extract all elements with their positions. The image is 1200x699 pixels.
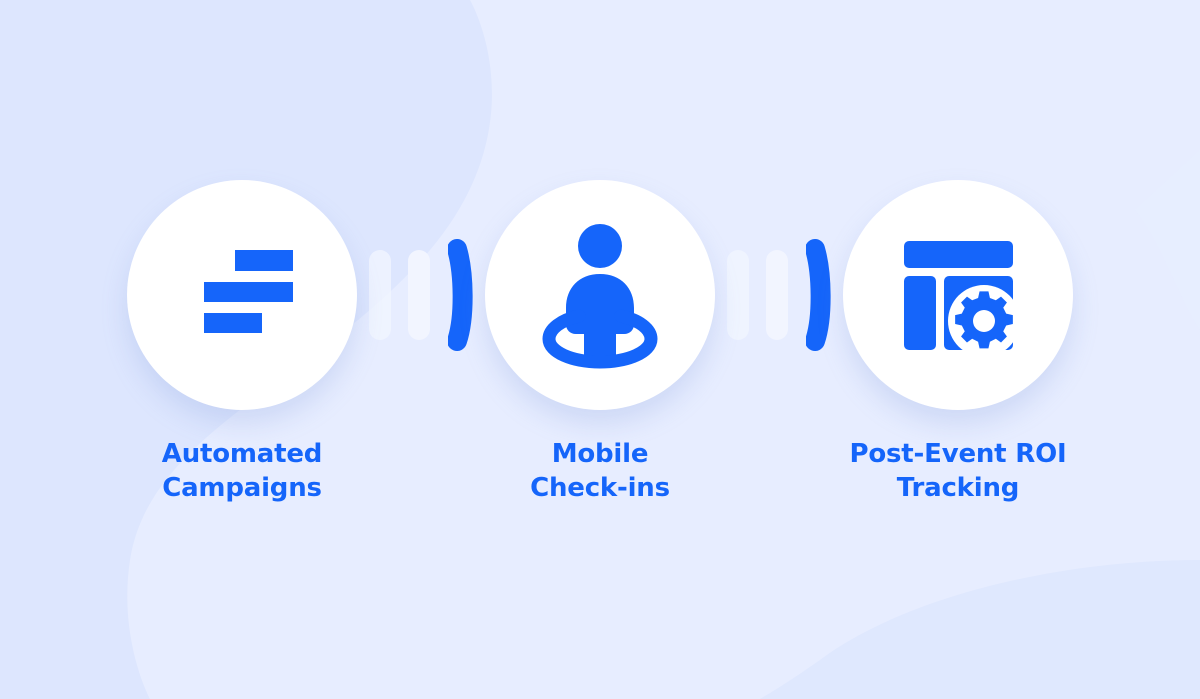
- step-icon-circle[interactable]: [485, 180, 715, 410]
- chevron-right-icon: [448, 239, 474, 351]
- person-location-icon: [535, 220, 665, 370]
- connector-dash-light: [369, 250, 391, 340]
- step-label: Post-Event ROI Tracking: [850, 437, 1067, 506]
- dashboard-settings-icon: [896, 233, 1021, 358]
- connector-dash-light: [766, 250, 788, 340]
- step-label: Mobile Check-ins: [530, 437, 670, 506]
- step-icon-circle[interactable]: [127, 180, 357, 410]
- connector-1: [357, 180, 485, 410]
- step-icon-circle[interactable]: [843, 180, 1073, 410]
- feature-steps-graphic: Automated Campaigns Mobile Check-ins: [0, 0, 1200, 699]
- step-label: Automated Campaigns: [162, 437, 322, 506]
- step-automated-campaigns[interactable]: Automated Campaigns: [127, 180, 357, 506]
- chevron-right-icon: [806, 239, 832, 351]
- steps-row: Automated Campaigns Mobile Check-ins: [0, 0, 1200, 699]
- step-post-event-roi-tracking[interactable]: Post-Event ROI Tracking: [843, 180, 1073, 506]
- connector-dash-light: [727, 250, 749, 340]
- connector-dash-light: [408, 250, 430, 340]
- step-mobile-check-ins[interactable]: Mobile Check-ins: [485, 180, 715, 506]
- connector-2: [715, 180, 843, 410]
- bar-chart-icon: [182, 235, 302, 355]
